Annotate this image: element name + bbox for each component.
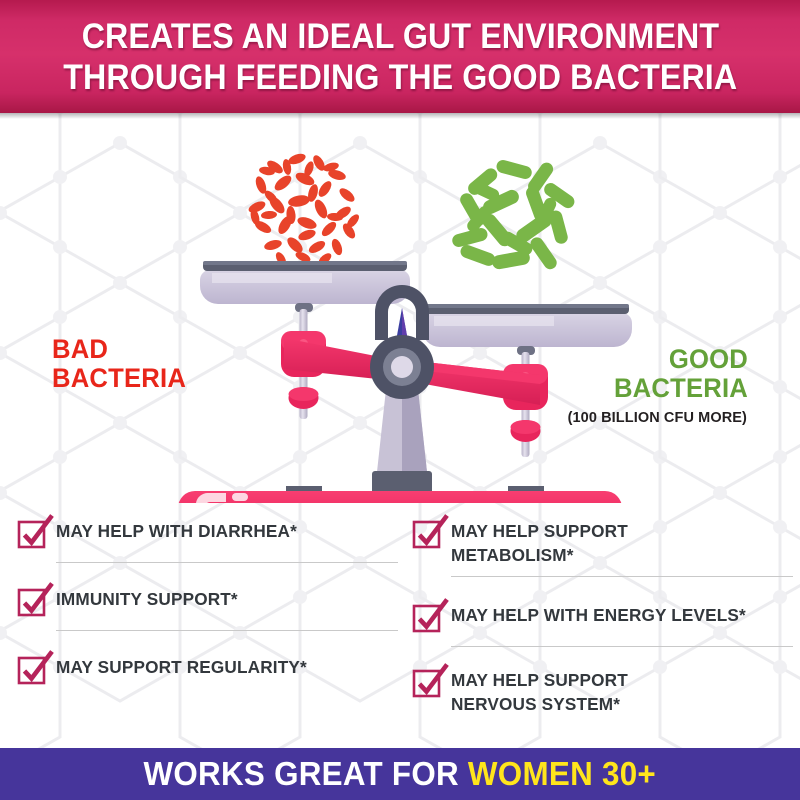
header-title-line2: THROUGH FEEDING THE GOOD BACTERIA [63,57,737,98]
footer-text-main: WORKS GREAT FOR [144,755,468,792]
benefit-separator [56,630,398,631]
checkmark-icon [18,519,43,544]
benefit-separator [451,576,793,577]
balance-scale-illustration: BAD BACTERIA GOOD BACTERIA (100 BILLION … [0,113,800,503]
header-banner: CREATES AN IDEAL GUT ENVIRONMENT THROUGH… [0,0,800,113]
checkmark-icon [413,519,438,544]
bad-bacteria-cluster [247,152,361,268]
benefit-label: MAY HELP SUPPORT NERVOUS SYSTEM* [451,667,711,716]
infographic-page: CREATES AN IDEAL GUT ENVIRONMENT THROUGH… [0,0,800,800]
benefit-label: MAY HELP WITH DIARRHEA* [56,518,297,543]
scale-right-arm [422,304,632,503]
footer-text: WORKS GREAT FOR WOMEN 30+ [144,756,657,792]
benefit-label: MAY HELP WITH ENERGY LEVELS* [451,602,746,627]
benefit-item[interactable]: MAY HELP WITH DIARRHEA* [18,518,398,562]
benefit-label: MAY HELP SUPPORT METABOLISM* [451,518,681,567]
benefits-column-right: MAY HELP SUPPORT METABOLISM* MAY HELP WI… [413,518,793,719]
benefit-item[interactable]: MAY SUPPORT REGULARITY* [18,654,398,698]
benefit-item[interactable]: MAY HELP WITH ENERGY LEVELS* [413,602,793,646]
benefit-item[interactable]: MAY HELP SUPPORT METABOLISM* [413,518,793,570]
benefits-column-left: MAY HELP WITH DIARRHEA* IMMUNITY SUPPORT… [18,518,398,698]
benefit-item[interactable]: MAY HELP SUPPORT NERVOUS SYSTEM* [413,667,793,719]
checkmark-icon [413,603,438,628]
checkmark-icon [413,668,438,693]
checkmark-icon [18,655,43,680]
benefit-label: IMMUNITY SUPPORT* [56,586,238,611]
benefit-separator [56,562,398,563]
good-bacteria-cluster [451,159,577,272]
footer-banner: WORKS GREAT FOR WOMEN 30+ [0,748,800,800]
header-title-line1: CREATES AN IDEAL GUT ENVIRONMENT [81,16,718,57]
benefits-section: MAY HELP WITH DIARRHEA* IMMUNITY SUPPORT… [0,518,800,738]
benefit-label: MAY SUPPORT REGULARITY* [56,654,307,679]
checkmark-icon [18,587,43,612]
footer-text-highlight: WOMEN 30+ [468,755,656,792]
benefit-separator [451,646,793,647]
benefit-item[interactable]: IMMUNITY SUPPORT* [18,586,398,630]
